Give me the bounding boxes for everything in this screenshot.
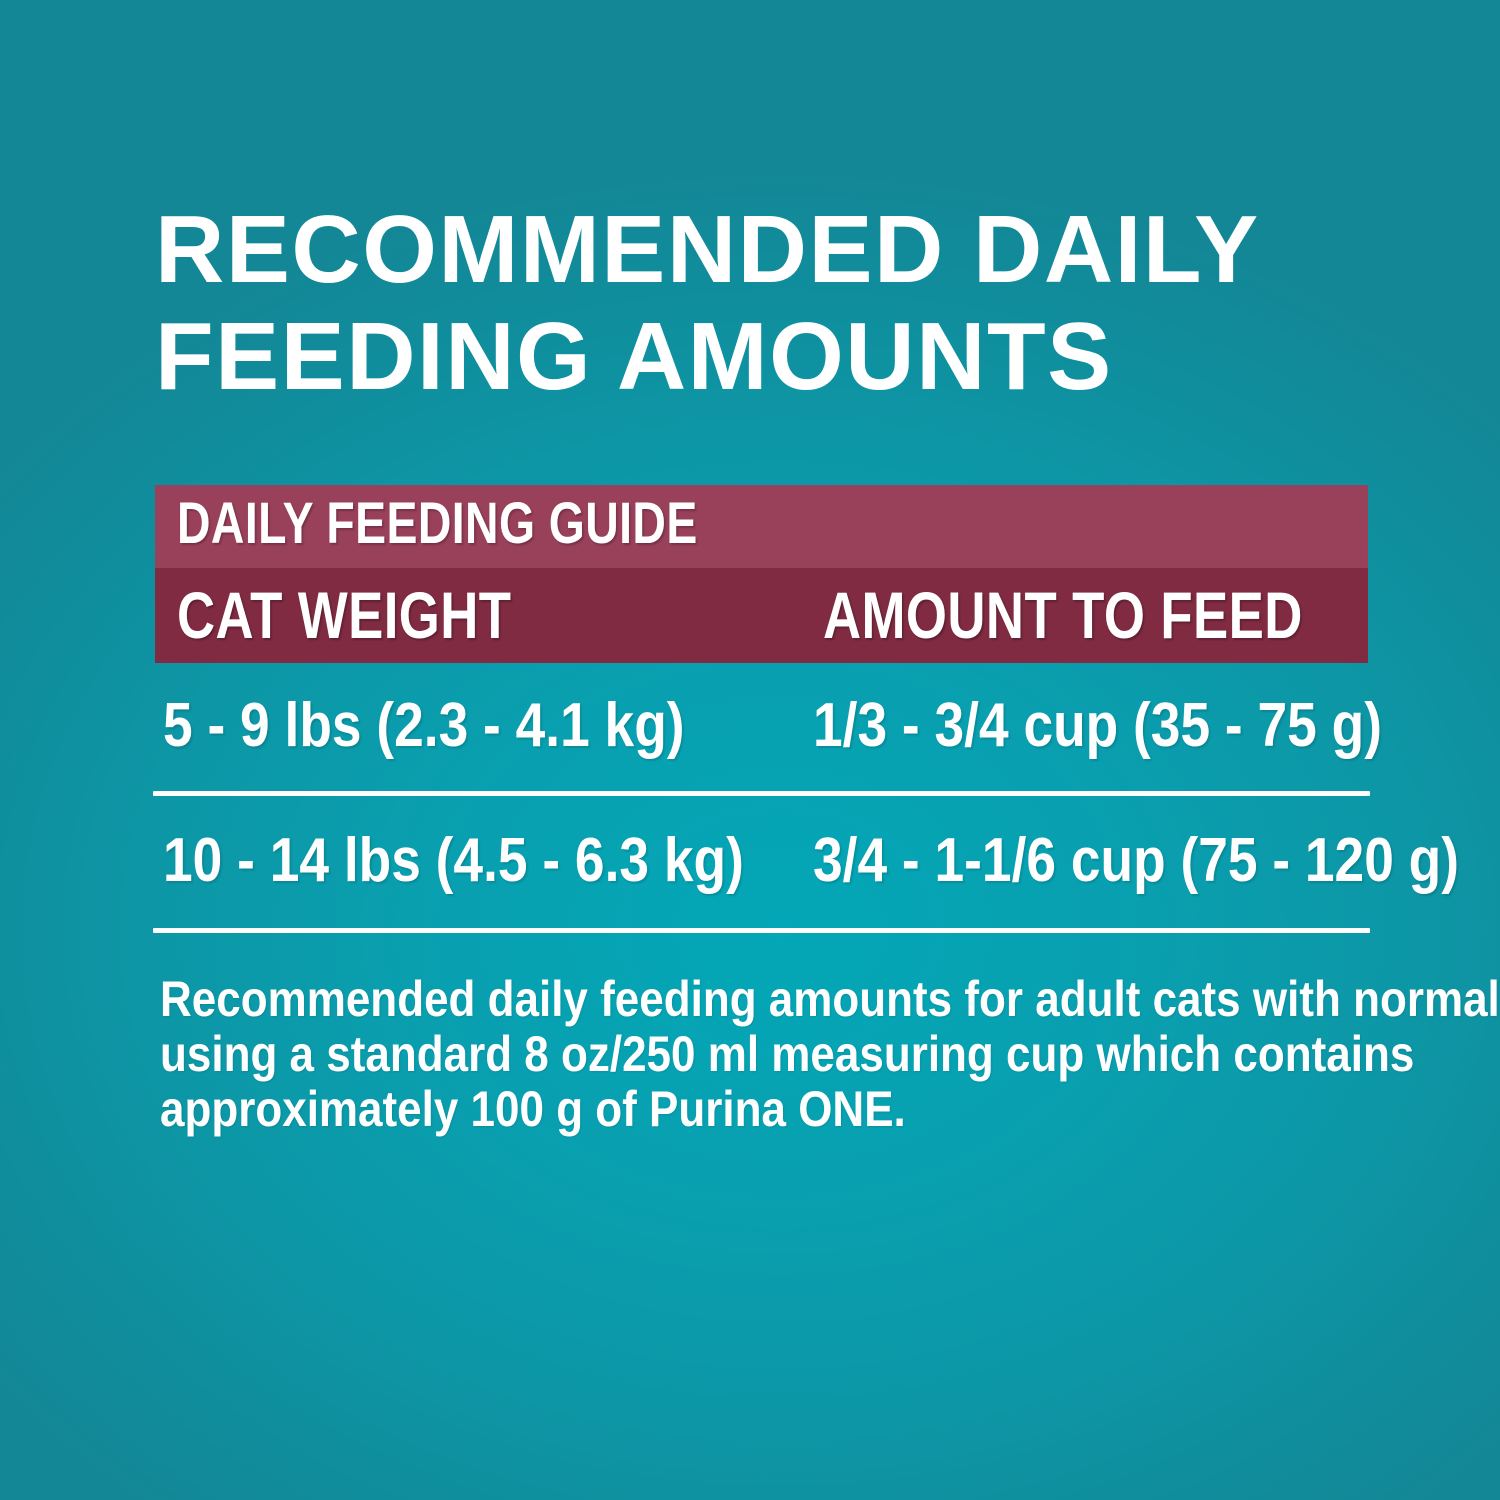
row-divider — [153, 928, 1370, 933]
table-row: 5 - 9 lbs (2.3 - 4.1 kg) 1/3 - 3/4 cup (… — [155, 688, 1370, 798]
footnote-line-3: approximately 100 g of Purina ONE. — [160, 1082, 1278, 1137]
column-header-cat-weight: CAT WEIGHT — [177, 577, 511, 653]
footnote-line-1: Recommended daily feeding amounts for ad… — [160, 972, 1278, 1027]
cell-cat-weight: 10 - 14 lbs (4.5 - 6.3 kg) — [163, 823, 744, 899]
cell-amount-to-feed: 1/3 - 3/4 cup (35 - 75 g) — [813, 688, 1382, 764]
table-row: 10 - 14 lbs (4.5 - 6.3 kg) 3/4 - 1-1/6 c… — [155, 823, 1370, 933]
column-header-amount-to-feed: AMOUNT TO FEED — [823, 577, 1303, 653]
footnote-line-2: using a standard 8 oz/250 ml measuring c… — [160, 1027, 1278, 1082]
page-title: RECOMMENDED DAILY FEEDING AMOUNTS — [155, 196, 1375, 410]
page-title-line-1: RECOMMENDED DAILY — [155, 196, 1375, 303]
page-title-line-2: FEEDING AMOUNTS — [155, 303, 1375, 410]
guide-heading: DAILY FEEDING GUIDE — [177, 491, 698, 557]
cell-amount-to-feed: 3/4 - 1-1/6 cup (75 - 120 g) — [813, 823, 1459, 899]
daily-feeding-guide-header: DAILY FEEDING GUIDE CAT WEIGHT AMOUNT TO… — [155, 485, 1368, 663]
footnote: Recommended daily feeding amounts for ad… — [160, 972, 1430, 1137]
row-divider — [153, 791, 1370, 796]
cell-cat-weight: 5 - 9 lbs (2.3 - 4.1 kg) — [163, 688, 685, 764]
feeding-guide-panel: RECOMMENDED DAILY FEEDING AMOUNTS DAILY … — [0, 0, 1500, 1500]
